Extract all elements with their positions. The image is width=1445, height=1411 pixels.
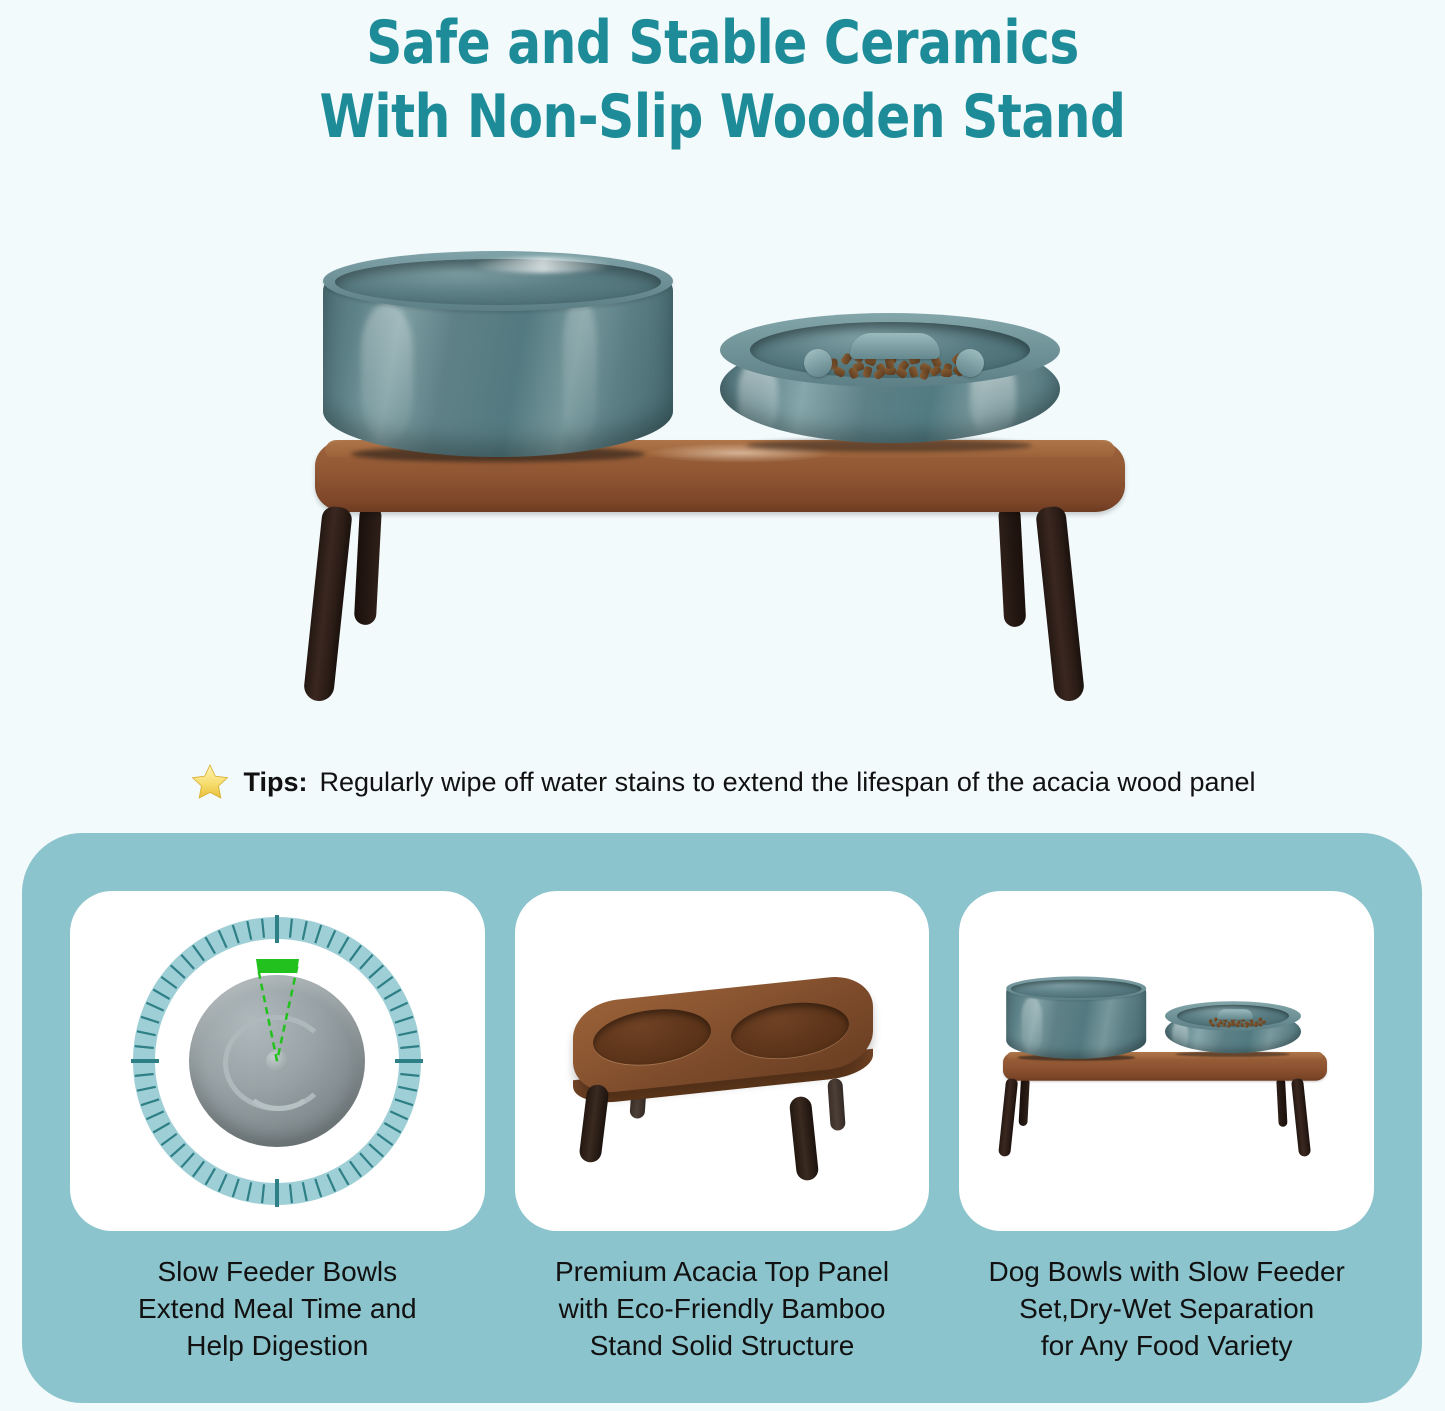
mini-stand-leg-back-right: [827, 1078, 846, 1131]
mini-leg-front-right: [1291, 1078, 1311, 1157]
mini-leg-back-left: [1018, 1078, 1029, 1126]
mini-deep-gloss: [1021, 997, 1042, 1053]
feature-card-slow-feeder[interactable]: [70, 891, 485, 1231]
mini-deep-bowl: [1006, 976, 1146, 1058]
caption-line: Premium Acacia Top Panel: [515, 1253, 930, 1290]
feature-card-list: [70, 891, 1374, 1231]
caption-line: Stand Solid Structure: [515, 1327, 930, 1364]
slow-bowl-ridge-center: [850, 333, 940, 359]
acacia-top-panel-photo: [515, 891, 930, 1231]
star-icon: [189, 762, 231, 802]
mini-slow-bowl: [1165, 1001, 1301, 1055]
hero-stage: [275, 235, 1175, 725]
dog-bowls-set-photo: [959, 891, 1374, 1231]
mini-leg-back-right: [1276, 1078, 1287, 1127]
caption-line: for Any Food Variety: [959, 1327, 1374, 1364]
tips-label: Tips:: [243, 767, 307, 798]
stand-leg-back-right: [998, 504, 1026, 627]
caption-line: with Eco-Friendly Bamboo: [515, 1290, 930, 1327]
deep-bowl-rim-gloss: [473, 257, 613, 273]
tips-text: Regularly wipe off water stains to exten…: [319, 767, 1255, 798]
acacia-stand-3q-view: [557, 980, 887, 1155]
mini-leg-front-left: [998, 1078, 1018, 1157]
feature-panel: Slow Feeder Bowls Extend Meal Time and H…: [22, 833, 1422, 1403]
feature-card-dry-wet-separation[interactable]: [959, 891, 1374, 1231]
feature-card-acacia-panel[interactable]: [515, 891, 930, 1231]
mini-stand-leg-front-right: [789, 1095, 820, 1181]
slow-feeder-dial-diagram: [70, 891, 485, 1231]
stand-leg-front-left: [303, 505, 353, 702]
stand-leg-back-left: [354, 504, 382, 625]
deep-bowl-gloss-right: [563, 297, 597, 447]
panel-recess-left: [593, 1004, 711, 1070]
title-line-1: Safe and Stable Ceramics: [51, 6, 1395, 80]
dial-gauge: [127, 911, 427, 1211]
title-line-2: With Non-Slip Wooden Stand: [51, 80, 1395, 154]
caption-line: Slow Feeder Bowls: [70, 1253, 485, 1290]
mini-deep-interior: [1011, 979, 1141, 997]
product-infographic-page: Safe and Stable Ceramics With Non-Slip W…: [0, 0, 1445, 1411]
caption-line: Help Digestion: [70, 1327, 485, 1364]
panel-recess-right: [731, 997, 849, 1063]
feature-caption-slow-feeder: Slow Feeder Bowls Extend Meal Time and H…: [70, 1253, 485, 1364]
hero-product-image: [275, 235, 1175, 725]
feature-caption-list: Slow Feeder Bowls Extend Meal Time and H…: [70, 1253, 1374, 1364]
stand-leg-front-right: [1035, 505, 1085, 702]
caption-line: Extend Meal Time and: [70, 1290, 485, 1327]
green-indicator-wedge: [127, 911, 427, 1211]
feature-caption-acacia-panel: Premium Acacia Top Panel with Eco-Friend…: [515, 1253, 930, 1364]
slow-feeder-ceramic-bowl: [720, 313, 1060, 448]
mini-slow-ridge: [1217, 1009, 1253, 1019]
caption-line: Dog Bowls with Slow Feeder: [959, 1253, 1374, 1290]
feature-caption-dry-wet: Dog Bowls with Slow Feeder Set,Dry-Wet S…: [959, 1253, 1374, 1364]
deep-bowl-gloss-left: [361, 303, 413, 443]
mini-hero-product: [987, 970, 1347, 1166]
page-title: Safe and Stable Ceramics With Non-Slip W…: [51, 6, 1395, 154]
deep-ceramic-bowl: [323, 251, 673, 456]
tips-row: Tips: Regularly wipe off water stains to…: [0, 762, 1445, 802]
caption-line: Set,Dry-Wet Separation: [959, 1290, 1374, 1327]
